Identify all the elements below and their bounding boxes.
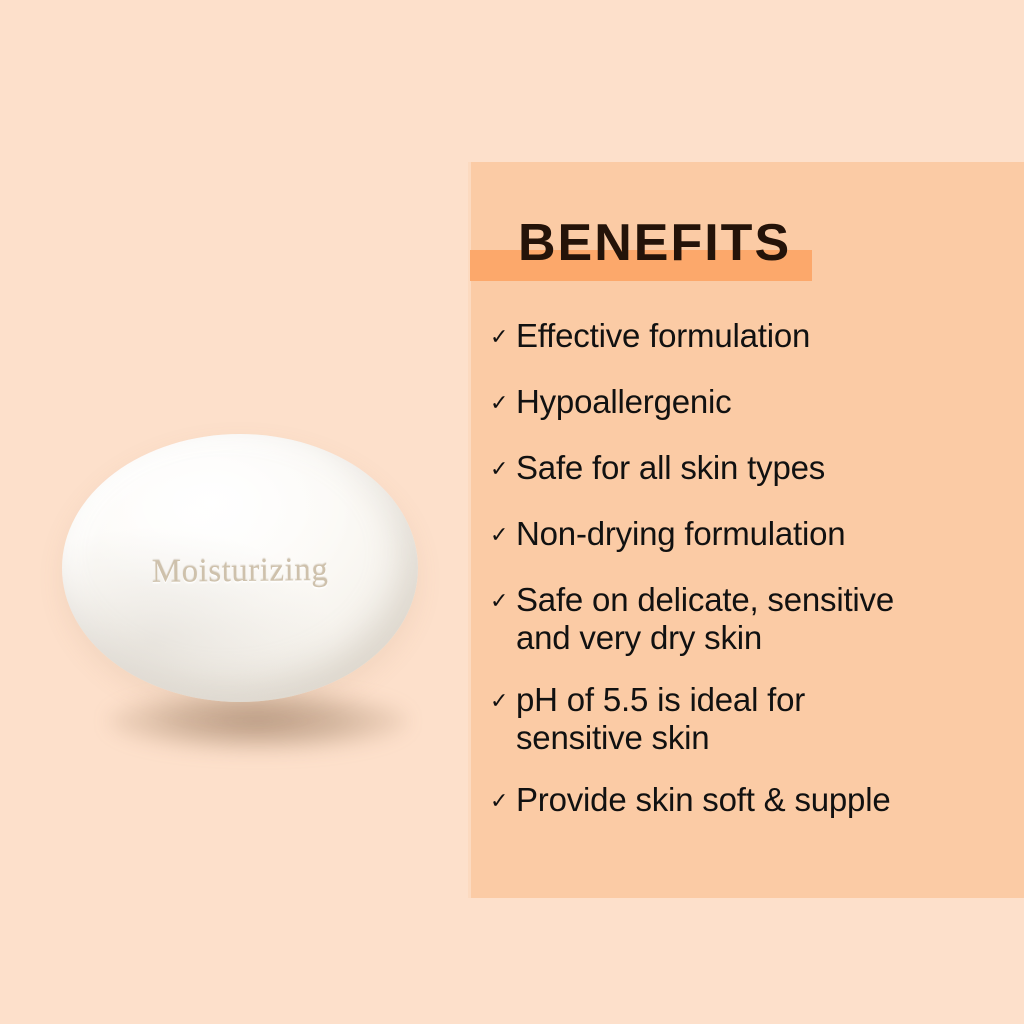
list-item-label: Safe on delicate, sensitiveand very dry … (516, 581, 1010, 657)
list-item: ✓ Hypoallergenic (490, 383, 1010, 425)
list-item-line-1: pH of 5.5 is ideal for (516, 681, 805, 718)
check-icon: ✓ (490, 681, 516, 723)
list-item: ✓ Safe on delicate, sensitiveand very dr… (490, 581, 1010, 657)
list-item-label: Safe for all skin types (516, 449, 1010, 487)
list-item: ✓ pH of 5.5 is ideal forsensitive skin (490, 681, 1010, 757)
benefits-list: ✓ Effective formulation ✓ Hypoallergenic… (490, 317, 1010, 847)
benefits-panel: BENEFITS ✓ Effective formulation ✓ Hypoa… (468, 162, 1024, 898)
check-icon: ✓ (490, 515, 516, 557)
list-item-label: Hypoallergenic (516, 383, 1010, 421)
list-item-line-2: sensitive skin (516, 719, 1010, 757)
check-icon: ✓ (490, 317, 516, 359)
list-item-line-1: Safe on delicate, sensitive (516, 581, 894, 618)
list-item: ✓ Effective formulation (490, 317, 1010, 359)
benefits-title-group: BENEFITS (468, 212, 1024, 290)
product-image-area: Moisturizing (0, 0, 468, 1024)
list-item-label: Provide skin soft & supple (516, 781, 1010, 819)
check-icon: ✓ (490, 581, 516, 623)
list-item-line-2: and very dry skin (516, 619, 1010, 657)
list-item-label: Non-drying formulation (516, 515, 1010, 553)
list-item-label: Effective formulation (516, 317, 1010, 355)
list-item: ✓ Non-drying formulation (490, 515, 1010, 557)
soap-embossed-label: Moisturizing (62, 551, 418, 592)
list-item: ✓ Safe for all skin types (490, 449, 1010, 491)
soap-bar-product: Moisturizing (62, 434, 418, 702)
page-title: BENEFITS (518, 212, 791, 274)
check-icon: ✓ (490, 383, 516, 425)
list-item-label: pH of 5.5 is ideal forsensitive skin (516, 681, 1010, 757)
check-icon: ✓ (490, 781, 516, 823)
check-icon: ✓ (490, 449, 516, 491)
list-item: ✓ Provide skin soft & supple (490, 781, 1010, 823)
